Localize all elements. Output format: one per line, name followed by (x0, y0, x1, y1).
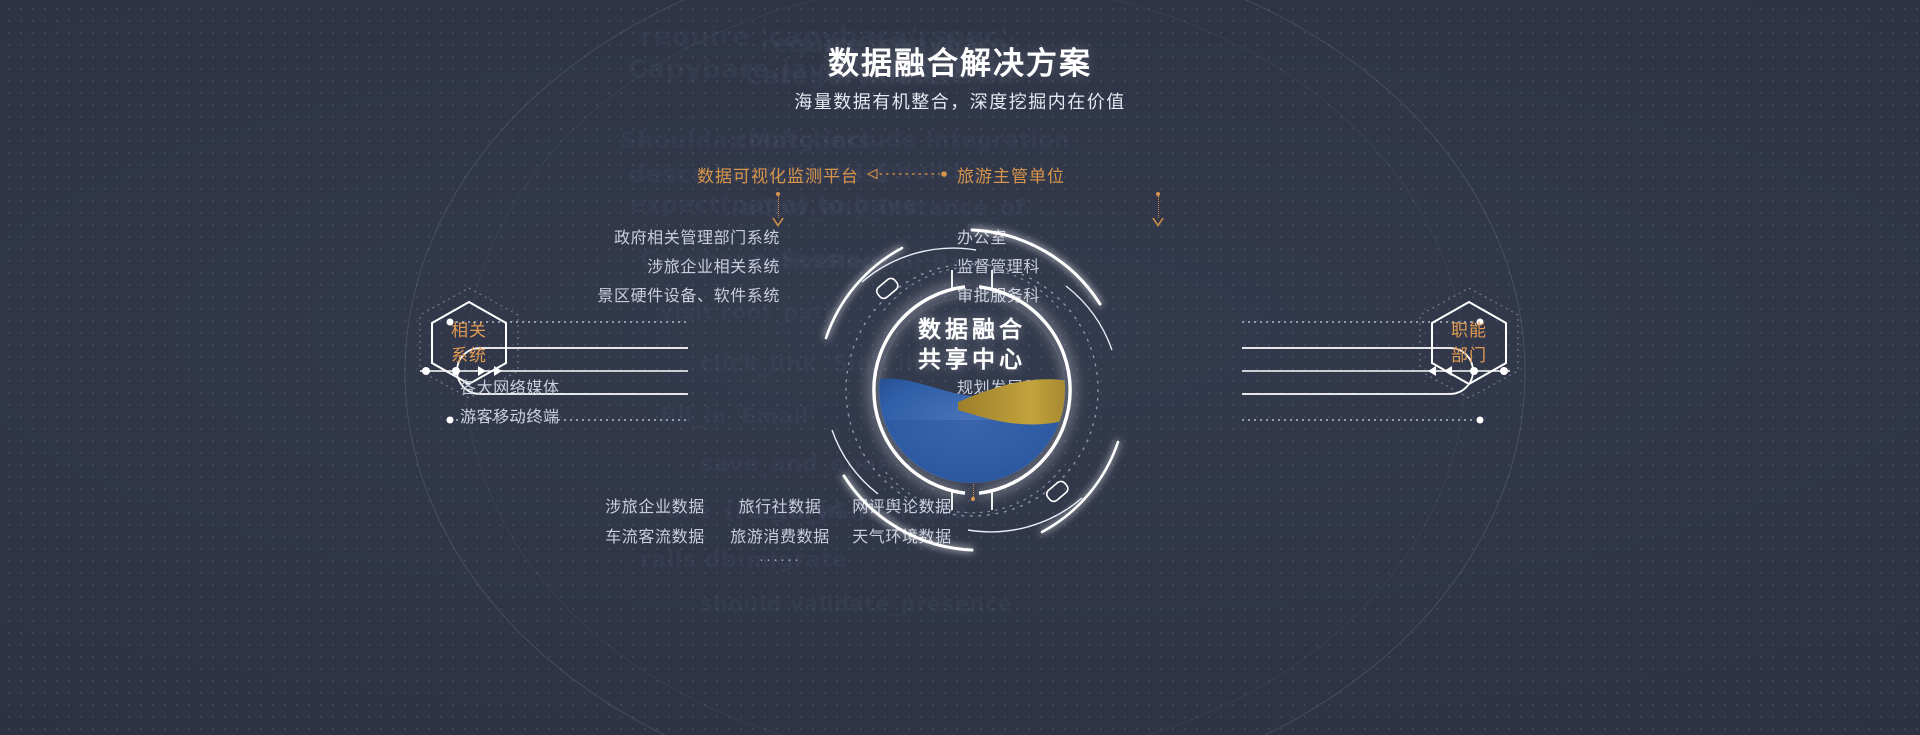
page-title: 数据融合解决方案 (0, 38, 1920, 83)
left-label-3[interactable]: 各大网络媒体 (460, 374, 560, 398)
data-fusion-hub-graphic: 数据融合 共享中心 (752, 170, 1192, 610)
left-label-2[interactable]: 景区硬件设备、软件系统 (260, 282, 780, 306)
bottom-label-0[interactable]: 涉旅企业数据 (585, 493, 725, 517)
background-code-line: config.include Integration (735, 128, 1070, 153)
left-label-1[interactable]: 涉旅企业相关系统 (260, 253, 780, 277)
left-label-4[interactable]: 游客移动终端 (460, 403, 560, 427)
node-functional-departments-label: 职能 部门 (1415, 318, 1523, 368)
page-subtitle: 海量数据有机整合，深度挖掘内在价值 (0, 88, 1920, 114)
node-related-systems-label: 相关 系统 (415, 318, 523, 368)
left-label-0[interactable]: 政府相关管理部门系统 (260, 224, 780, 248)
node-functional-departments[interactable]: 职能 部门 (1415, 285, 1523, 401)
bottom-label-3[interactable]: 车流客流数据 (585, 523, 725, 547)
infographic-canvas: require 'capybara/rspec'require 'capybar… (0, 0, 1920, 735)
